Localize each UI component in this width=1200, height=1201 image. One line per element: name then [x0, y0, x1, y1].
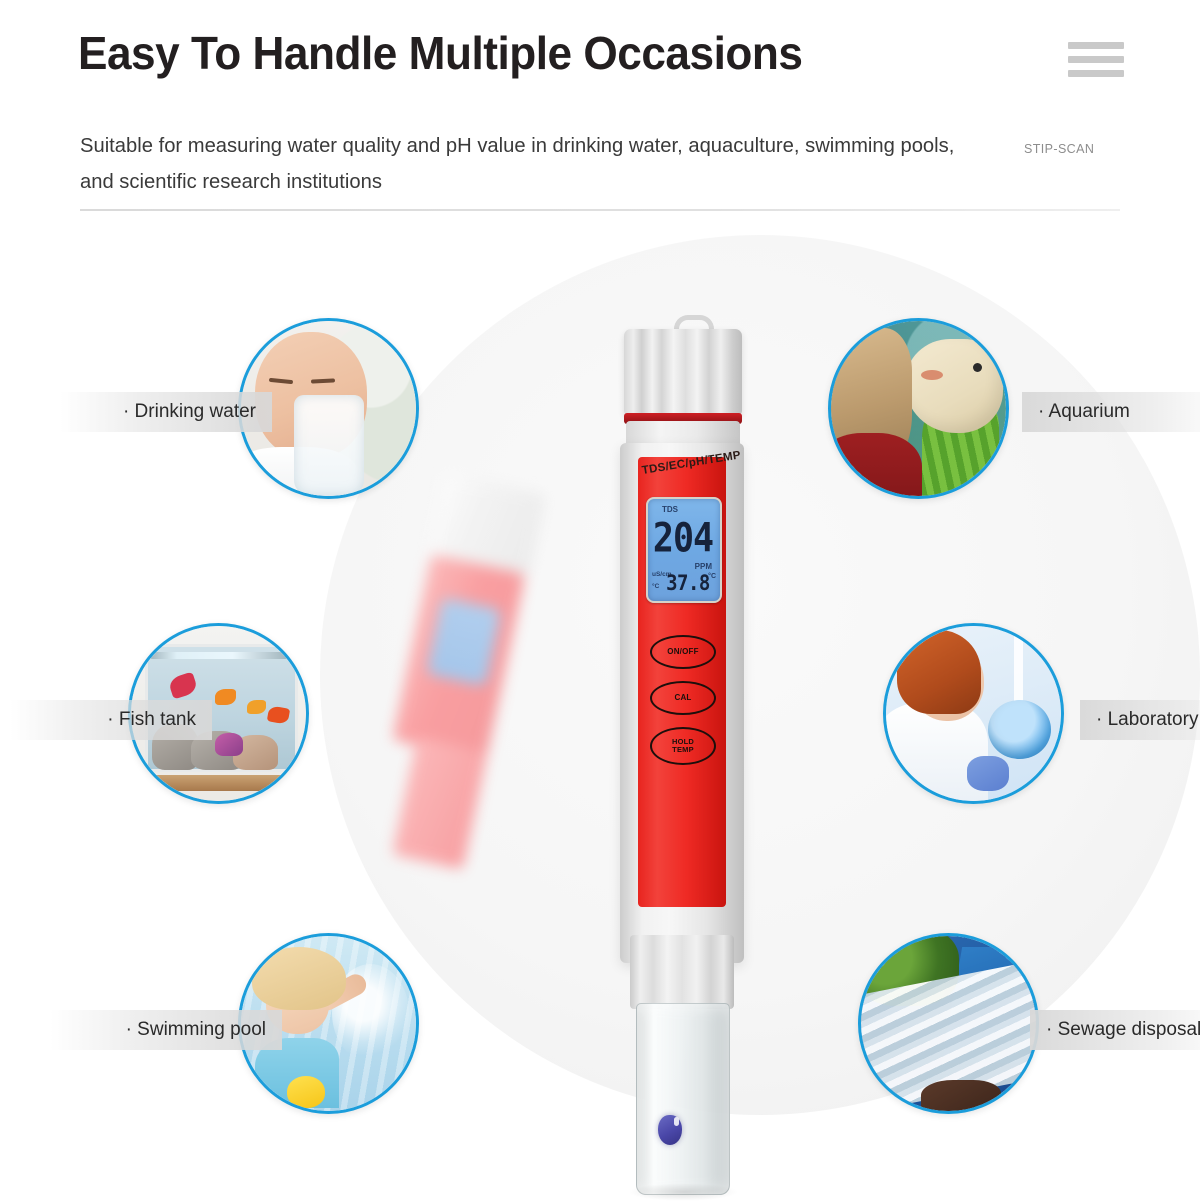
brand-mark: STIP-SCAN	[1024, 142, 1094, 156]
photo-detail-fish	[215, 689, 236, 705]
device-protective-cap	[624, 329, 742, 415]
sewage-disposal-photo	[861, 936, 1036, 1111]
calibrate-button-label: CAL	[674, 694, 691, 702]
photo-detail-table	[138, 775, 299, 791]
photo-detail-rubber-duck	[287, 1076, 326, 1108]
photo-circle-laboratory	[883, 623, 1064, 804]
page-header: Easy To Handle Multiple Occasions Suitab…	[0, 0, 1200, 215]
photo-circle-sewage-disposal	[858, 933, 1039, 1114]
photo-detail-blue-flask	[988, 700, 1051, 760]
header-divider	[80, 209, 1120, 211]
hamburger-bar-2	[1068, 56, 1124, 63]
hamburger-menu-icon[interactable]	[1068, 42, 1124, 82]
photo-detail-water-glass	[294, 395, 364, 497]
ghost-lower-body	[392, 737, 487, 869]
product-stage: TDS/EC/pH/TEMP TDS 204 PPM uS/cm °C 37.8…	[0, 215, 1200, 1200]
hold-temp-button[interactable]: HOLD TEMP	[650, 727, 716, 765]
lcd-main-value: 204	[648, 516, 718, 562]
probe-tip-highlight	[674, 1117, 679, 1126]
temp-button-label: TEMP	[672, 746, 694, 754]
device-ground-shadow	[628, 1183, 738, 1201]
callout-label-aquarium: · Aquarium	[1022, 392, 1200, 432]
photo-detail-fish-eye	[973, 363, 982, 372]
power-button-label: ON/OFF	[667, 648, 698, 656]
callout-label-sewage-disposal: · Sewage disposal	[1030, 1010, 1200, 1050]
lcd-secondary-value: 37.8	[664, 571, 712, 596]
callout-label-laboratory: · Laboratory	[1080, 700, 1200, 740]
callout-label-fish-tank: · Fish tank	[10, 700, 212, 740]
photo-detail-rocks	[921, 1080, 1002, 1112]
water-quality-tester-device: TDS/EC/pH/TEMP TDS 204 PPM uS/cm °C 37.8…	[588, 315, 768, 1195]
photo-detail-coral	[215, 733, 243, 756]
photo-detail-large-fish	[905, 339, 1003, 434]
product-feature-page: Easy To Handle Multiple Occasions Suitab…	[0, 0, 1200, 1200]
photo-detail-tank-lamp	[149, 652, 289, 659]
power-button[interactable]: ON/OFF	[650, 635, 716, 669]
photo-detail-hair	[897, 630, 981, 714]
lcd-mode-label: TDS	[662, 505, 678, 514]
photo-detail-glove	[967, 756, 1009, 791]
photo-detail-fish	[247, 700, 266, 714]
device-lower-grip	[630, 935, 734, 1009]
photo-detail-sun-hat	[252, 947, 347, 1010]
aquarium-photo	[831, 321, 1006, 496]
calibrate-button[interactable]: CAL	[650, 681, 716, 715]
device-probe-cover	[636, 1003, 730, 1195]
callout-label-drinking-water: · Drinking water	[60, 392, 272, 432]
hamburger-bar-3	[1068, 70, 1124, 77]
photo-circle-aquarium	[828, 318, 1009, 499]
page-title: Easy To Handle Multiple Occasions	[78, 26, 802, 80]
photo-detail-red-coat	[831, 433, 922, 496]
lcd-secondary-unit: °C	[708, 573, 716, 580]
callout-label-swimming-pool: · Swimming pool	[50, 1010, 282, 1050]
page-subtitle: Suitable for measuring water quality and…	[80, 128, 967, 200]
device-lcd-screen: TDS 204 PPM uS/cm °C 37.8 °C	[646, 497, 722, 603]
lcd-celsius-label: °C	[652, 583, 659, 590]
lcd-main-unit: PPM	[695, 562, 712, 571]
laboratory-photo	[886, 626, 1061, 801]
photo-detail-fish-mouth	[921, 370, 943, 380]
hamburger-bar-1	[1068, 42, 1124, 49]
